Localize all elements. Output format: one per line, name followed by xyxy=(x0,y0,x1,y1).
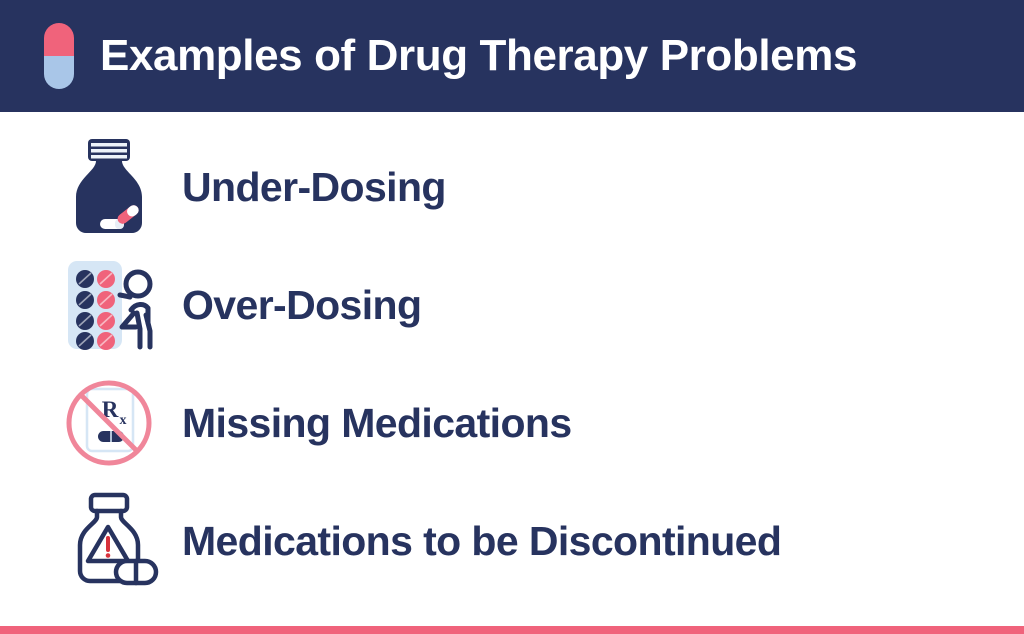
list-item: Medications to be Discontinued xyxy=(0,482,1024,600)
no-prescription-icon: R x xyxy=(58,371,160,475)
list-item-label: Over-Dosing xyxy=(182,285,421,326)
blister-pack-sick-person-icon xyxy=(58,253,160,357)
warning-pill-bottle-icon xyxy=(58,489,160,593)
list-item-label: Missing Medications xyxy=(182,403,572,444)
page-header: Examples of Drug Therapy Problems xyxy=(0,0,1024,112)
medicine-bottle-icon xyxy=(58,135,160,239)
capsule-pill-icon xyxy=(44,23,74,89)
list-item: Over-Dosing xyxy=(0,246,1024,364)
bottom-accent-bar xyxy=(0,626,1024,634)
list-item: R x Missing Medications xyxy=(0,364,1024,482)
list-item-label: Under-Dosing xyxy=(182,167,446,208)
list-item: Under-Dosing xyxy=(0,128,1024,246)
svg-text:x: x xyxy=(120,413,127,428)
problem-list: Under-Dosing xyxy=(0,112,1024,626)
page-title: Examples of Drug Therapy Problems xyxy=(100,34,857,78)
list-item-label: Medications to be Discontinued xyxy=(182,521,781,562)
